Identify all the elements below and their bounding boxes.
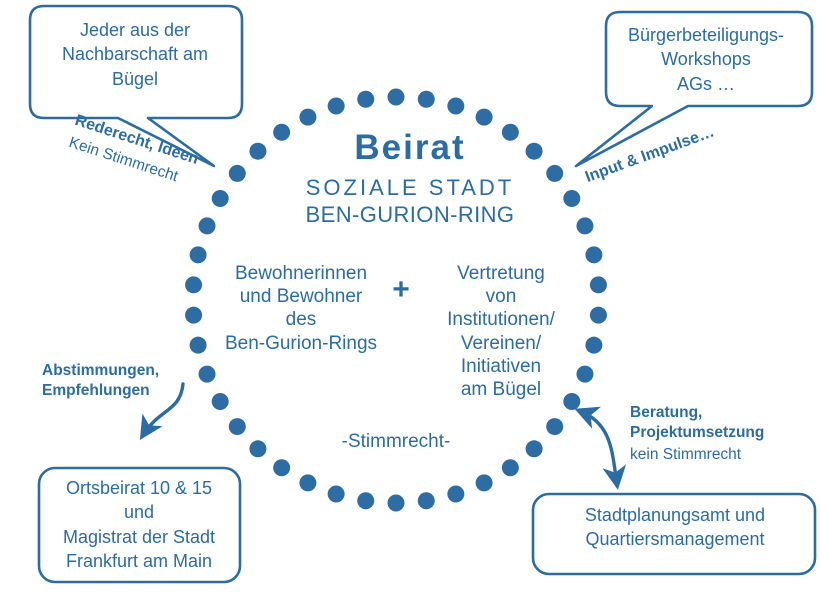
ring-dot [585,246,602,263]
ring-dot [585,337,602,354]
page-subtitle: SOZIALE STADT [0,175,820,202]
ring-dot [388,89,405,106]
ring-dot [328,98,345,115]
circle-column-right: Vertretung von Institutionen/ Vereinen/ … [425,262,577,401]
ring-dot [476,474,493,491]
speech-bubble-top-left-label: Jeder aus der Nachbarschaft am Bügel [30,18,240,91]
connector-label-abstimmungen: Abstimmungen, Empfehlungen [42,361,192,401]
box-bottom-right-label: Stadtplanungsamt und Quartiersmanagement [535,503,815,552]
diagram-canvas: Beirat SOZIALE STADT BEN-GURION-RING Bew… [0,0,820,600]
ring-dot [526,440,543,457]
ring-dot [299,474,316,491]
ring-dot [199,366,216,383]
ring-dot [185,307,202,324]
speech-bubble-top-right-label: Bürgerbeteiligungs- Workshops AGs … [606,23,806,96]
ring-dot [546,418,563,435]
ring-dot [418,91,435,108]
plus-icon: + [385,272,417,309]
ring-dot [190,337,207,354]
ring-dot [418,492,435,509]
page-subtitle-secondary: BEN-GURION-RING [0,202,820,229]
connector-label-kein-stimmrecht-2: kein Stimmrecht [630,446,820,465]
ring-dot [357,91,374,108]
ring-dot [502,459,519,476]
ring-dot [447,485,464,502]
ring-dot [357,492,374,509]
box-bottom-left-label: Ortsbeirat 10 & 15 und Magistrat der Sta… [40,476,238,573]
ring-dot [190,246,207,263]
ring-dot [185,276,202,293]
circle-column-left: Bewohnerinnen und Bewohner des Ben-Gurio… [213,262,389,355]
ring-dot [299,109,316,126]
arrow-beratung [580,411,617,484]
ring-dot [229,418,246,435]
connector-label-beratung: Beratung, Projektumsetzung [630,403,820,444]
ring-dot [447,98,464,115]
ring-dot [590,276,607,293]
ring-dot [212,393,229,410]
ring-dot [328,485,345,502]
circle-footer-note: -Stimmrecht- [296,430,496,453]
ring-dot [388,495,405,512]
ring-dot [249,440,266,457]
ring-dot [476,109,493,126]
ring-dot [273,459,290,476]
ring-dot [590,307,607,324]
ring-dot [576,366,593,383]
